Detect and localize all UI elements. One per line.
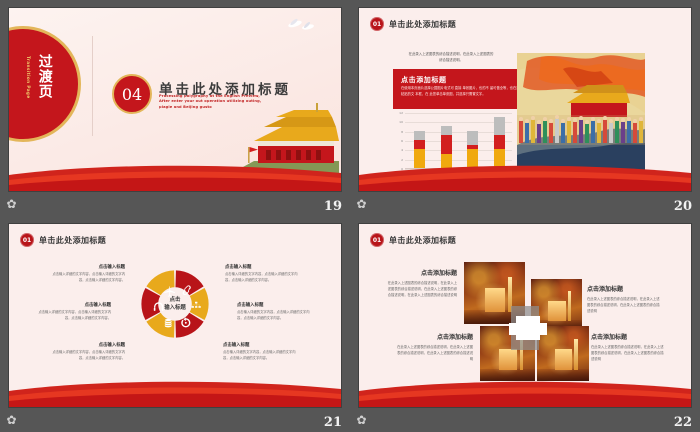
caption-title: 点击输入标题 [237,302,315,308]
footer-22: ✿ 22 [350,407,700,432]
slide-21[interactable]: 01 单击此处添加标题 [9,224,341,407]
chart-y-tick: 12 [399,111,403,115]
footer-21: ✿ 21 [0,407,350,432]
star-icon: ✿ [5,414,18,427]
chart-bar-segment [441,135,452,154]
section-vertical-title-en: Transition Page [26,56,31,99]
red-wave-decoration [9,161,341,191]
chart-bar-segment [494,117,505,136]
caption-body: 点击输入详细的文字内容，点击输入详细的文字内容，点击输入详细的文字内容。 [237,310,315,322]
red-wave-decoration [9,377,341,407]
slide-cell-22[interactable]: 01 单击此处添加标题 点击添加标题 在此录入上述图表的综合描述说明，在此录入上… [350,216,700,432]
caption-body: 点击输入详细的文字内容，点击输入详细的文字内容，点击输入详细的文字内容。 [33,310,111,322]
chart-bar-segment [414,140,425,149]
donut-center-line2: 输入标题 [164,304,186,312]
footer-20: ✿ 20 [350,191,700,216]
section-vertical-title: 过渡页 [37,54,52,99]
caption-body: 点击输入详细的文字内容，点击输入详细的文字内容，点击输入详细的文字内容。 [225,272,303,284]
star-icon: ✿ [5,198,18,211]
page-number: 20 [674,199,692,214]
caption-title: 点击输入标题 [223,342,301,348]
donut-caption-1: 点击输入标题 点击输入详细的文字内容，点击输入详细的文字内容，点击输入详细的文字… [47,264,125,284]
header-title: 单击此处添加标题 [39,235,106,246]
chart-y-tick: 4 [401,148,403,152]
chart-gridline [405,113,512,114]
vertical-divider [92,36,93,136]
header-title: 单击此处添加标题 [389,235,456,246]
caption-title: 点击输入标题 [47,342,125,348]
chart-y-tick: 6 [401,139,403,143]
red-wave-decoration [359,377,691,407]
slide-cell-19[interactable]: 过渡页 Transition Page 04 单击此处添加标题 Processi… [0,0,350,216]
chart-bar-segment [467,131,478,145]
red-wave-decoration [359,161,691,191]
donut-center-line1: 点击 [164,296,186,304]
slide-cell-21[interactable]: 01 单击此处添加标题 [0,216,350,432]
lead-text: 在此录入上述图表的综合描述说明，在此录入上述图表的综合描述说明。 [407,52,495,64]
caption-title: 点击添加标题 [385,268,457,277]
six-segment-donut[interactable]: 点击 输入标题 [135,264,215,344]
caption-body: 在此录入上述图表的综合描述说明，在此录入上述图表的综合描述说明，在此录入上述图表… [587,296,661,314]
caption-body: 在此录入上述图表的综合描述说明，在此录入上述图表的综合描述说明，在此录入上述图表… [385,280,457,298]
slide-cell-20[interactable]: 01 单击此处添加标题 在此录入上述图表的综合描述说明，在此录入上述图表的综合描… [350,0,700,216]
slide-22[interactable]: 01 单击此处添加标题 点击添加标题 在此录入上述图表的综合描述说明，在此录入上… [359,224,691,407]
callout-body: 在使用本页面片选择公园图片电式可 直接 单张图片，也的不 留可做全等，也在重这页… [401,86,529,98]
page-number: 22 [674,415,692,430]
donut-caption-4: 点击输入标题 点击输入详细的文字内容，点击输入详细的文字内容，点击输入详细的文字… [225,264,303,284]
section-number-badge: 04 [112,74,152,114]
doves-icon [285,15,319,35]
chart-bar-segment [494,135,505,149]
slide-20[interactable]: 01 单击此处添加标题 在此录入上述图表的综合描述说明，在此录入上述图表的综合描… [359,8,691,191]
caption-title: 点击添加标题 [587,284,661,293]
chart-bar-segment [414,131,425,140]
donut-center-label: 点击 输入标题 [164,296,186,312]
donut-caption-6: 点击输入标题 点击输入详细的文字内容，点击输入详细的文字内容，点击输入详细的文字… [223,342,301,362]
slide-header: 01 单击此处添加标题 [370,233,456,247]
caption-title: 点击输入标题 [33,302,111,308]
slide-header: 01 单击此处添加标题 [20,233,106,247]
collage-caption-4: 点击添加标题 在此录入上述图表的综合描述说明，在此录入上述图表的综合描述说明，在… [591,332,665,362]
slide-thumbnail-grid: 过渡页 Transition Page 04 单击此处添加标题 Processi… [0,0,700,432]
header-badge: 01 [370,233,384,247]
chart-bar-segment [441,126,452,135]
caption-body: 在此录入上述图表的综合描述说明，在此录入上述图表的综合描述说明，在此录入上述图表… [395,344,473,362]
caption-body: 点击输入详细的文字内容，点击输入详细的文字内容，点击输入详细的文字内容。 [223,350,301,362]
donut-caption-5: 点击输入标题 点击输入详细的文字内容，点击输入详细的文字内容，点击输入详细的文字… [237,302,315,322]
caption-body: 在此录入上述图表的综合描述说明，在此录入上述图表的综合描述说明，在此录入上述图表… [591,344,665,362]
caption-body: 点击输入详细的文字内容，点击输入详细的文字内容，点击输入详细的文字内容。 [47,350,125,362]
caption-title: 点击输入标题 [47,264,125,270]
caption-title: 点击添加标题 [395,332,473,341]
donut-caption-3: 点击输入标题 点击输入详细的文字内容，点击输入详细的文字内容，点击输入详细的文字… [47,342,125,362]
caption-body: 点击输入详细的文字内容，点击输入详细的文字内容，点击输入详细的文字内容。 [47,272,125,284]
caption-title: 点击添加标题 [591,332,665,341]
star-icon: ✿ [355,414,368,427]
header-badge: 01 [20,233,34,247]
header-badge: 01 [370,17,384,31]
photo-tiananmen-crowd [517,53,645,175]
page-number: 21 [324,415,342,430]
collage-white-cross-h [509,323,547,335]
slide-header: 01 单击此处添加标题 [370,17,456,31]
header-title: 单击此处添加标题 [389,19,456,30]
donut-caption-2: 点击输入标题 点击输入详细的文字内容，点击输入详细的文字内容，点击输入详细的文字… [33,302,111,322]
footer-19: ✿ 19 [0,191,350,216]
callout-title: 点击添加标题 [401,75,447,85]
collage-caption-2: 点击添加标题 在此录入上述图表的综合描述说明，在此录入上述图表的综合描述说明，在… [587,284,661,314]
page-number: 19 [324,199,342,214]
star-icon: ✿ [355,198,368,211]
collage-caption-1: 点击添加标题 在此录入上述图表的综合描述说明，在此录入上述图表的综合描述说明，在… [385,268,457,298]
collage-caption-3: 点击添加标题 在此录入上述图表的综合描述说明，在此录入上述图表的综合描述说明，在… [395,332,473,362]
chart-y-tick: 10 [399,120,403,124]
chart-y-tick: 8 [401,130,403,134]
caption-title: 点击输入标题 [225,264,303,270]
slide-19[interactable]: 过渡页 Transition Page 04 单击此处添加标题 Processi… [9,8,341,191]
